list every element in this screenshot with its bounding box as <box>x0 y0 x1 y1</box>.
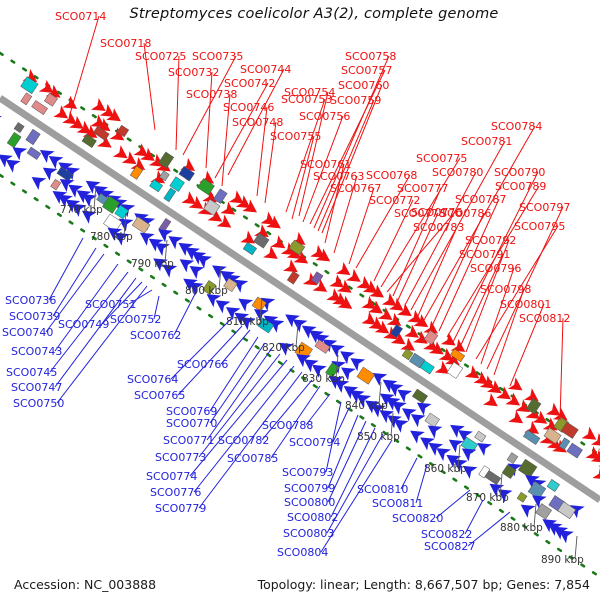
feature-box[interactable] <box>507 453 518 464</box>
feature-box[interactable] <box>287 271 299 284</box>
gene-label-forward[interactable]: SCO0760 <box>338 79 389 92</box>
gene-label-forward[interactable]: SCO0735 <box>192 50 243 63</box>
label-leader-line <box>70 16 99 114</box>
gene-label-forward[interactable]: SCO0812 <box>519 312 570 325</box>
label-leader-line <box>49 238 83 300</box>
gene-label-reverse[interactable]: SCO0743 <box>11 345 62 358</box>
feature-box[interactable] <box>567 443 583 458</box>
scale-tick-label: 840 kbp <box>345 400 388 412</box>
gene-label-forward[interactable]: SCO0746 <box>223 101 274 114</box>
gene-label-forward[interactable]: SCO0786 <box>440 207 491 220</box>
feature-box[interactable] <box>412 389 427 403</box>
gene-label-forward[interactable]: SCO0780 <box>432 166 483 179</box>
gene-arrow-forward[interactable] <box>63 96 82 115</box>
label-leader-line <box>418 227 457 316</box>
label-leader-line <box>206 72 212 168</box>
gene-label-forward[interactable]: SCO0789 <box>495 180 546 193</box>
gene-arrow-reverse[interactable] <box>517 499 536 518</box>
feature-box[interactable] <box>14 122 24 132</box>
feature-box[interactable] <box>243 242 256 255</box>
gene-label-reverse[interactable]: SCO0820 <box>392 512 443 525</box>
gene-label-reverse[interactable]: SCO0774 <box>146 470 197 483</box>
gene-label-reverse[interactable]: SCO0739 <box>9 310 60 323</box>
gene-arrow-forward[interactable] <box>592 466 600 485</box>
gene-label-reverse[interactable]: SCO0800 <box>284 496 335 509</box>
gene-arrow-reverse[interactable] <box>0 109 2 128</box>
gene-label-reverse[interactable]: SCO0811 <box>372 497 423 510</box>
label-leader-line <box>292 136 314 219</box>
gene-label-reverse[interactable]: SCO0803 <box>283 527 334 540</box>
scale-tick-label: 780 kbp <box>90 231 133 243</box>
feature-box[interactable] <box>51 179 61 190</box>
gene-label-reverse[interactable]: SCO0779 <box>155 502 206 515</box>
gene-label-reverse[interactable]: SCO0736 <box>5 294 56 307</box>
gene-label-forward[interactable]: SCO0778 <box>394 207 445 220</box>
gene-label-forward[interactable]: SCO0783 <box>413 221 464 234</box>
gene-label-reverse[interactable]: SCO0762 <box>130 329 181 342</box>
feature-box[interactable] <box>447 362 463 378</box>
gene-arrow-forward[interactable] <box>508 410 527 429</box>
gene-label-forward[interactable]: SCO0775 <box>416 152 467 165</box>
scale-tick-label: 860 kbp <box>424 463 467 475</box>
gene-label-reverse[interactable]: SCO0749 <box>58 318 109 331</box>
feature-box[interactable] <box>425 413 440 427</box>
gene-label-reverse[interactable]: SCO0764 <box>127 373 178 386</box>
scale-tick-label: 880 kbp <box>500 522 543 534</box>
gene-label-reverse[interactable]: SCO0782 <box>218 434 269 447</box>
gene-label-reverse[interactable]: SCO0747 <box>11 381 62 394</box>
feature-box[interactable] <box>547 479 559 491</box>
gene-arrow-forward[interactable] <box>508 377 527 396</box>
label-leader-line <box>328 415 358 488</box>
scale-tick-label: 870 kbp <box>466 492 509 504</box>
gene-label-forward[interactable]: SCO0756 <box>299 110 350 123</box>
feature-box[interactable] <box>27 147 41 159</box>
feature-box[interactable] <box>517 492 527 502</box>
reverse-strand-labels[interactable]: SCO0736SCO0739SCO0740SCO0743SCO0745SCO07… <box>2 238 510 559</box>
feature-box[interactable] <box>164 188 176 202</box>
gene-label-reverse[interactable]: SCO0752 <box>110 313 161 326</box>
gene-label-reverse[interactable]: SCO0788 <box>262 419 313 432</box>
feature-box[interactable] <box>475 431 486 442</box>
gene-label-reverse[interactable]: SCO0804 <box>277 546 328 559</box>
gene-label-reverse[interactable]: SCO0810 <box>357 483 408 496</box>
scale-tick-label: 790 kbp <box>131 258 174 270</box>
scale-tick-label: 890 kbp <box>541 554 584 566</box>
feature-box[interactable] <box>32 100 48 114</box>
feature-box[interactable] <box>21 93 32 105</box>
gene-label-reverse[interactable]: SCO0827 <box>424 540 475 553</box>
gene-label-forward[interactable]: SCO0738 <box>186 88 237 101</box>
gene-label-reverse[interactable]: SCO0745 <box>6 366 57 379</box>
gene-label-forward[interactable]: SCO0755 <box>270 130 321 143</box>
scale-tick-label: 800 kbp <box>185 285 228 297</box>
genome-map-viewer: Streptomyces coelicolor A3(2), complete … <box>0 0 600 600</box>
feature-box[interactable] <box>26 129 40 145</box>
gene-label-forward[interactable]: SCO0768 <box>366 169 417 182</box>
gene-label-forward[interactable]: SCO0787 <box>455 193 506 206</box>
feature-box[interactable] <box>357 367 375 384</box>
gene-label-forward[interactable]: SCO0797 <box>519 201 570 214</box>
gene-label-reverse[interactable]: SCO0802 <box>287 511 338 524</box>
gene-label-reverse[interactable]: SCO0770 <box>166 417 217 430</box>
gene-label-forward[interactable]: SCO0744 <box>240 63 291 76</box>
gene-label-reverse[interactable]: SCO0785 <box>227 452 278 465</box>
gene-label-forward[interactable]: SCO0758 <box>345 50 396 63</box>
gene-label-forward[interactable]: SCO0801 <box>500 298 551 311</box>
gene-label-forward[interactable]: SCO0796 <box>470 262 521 275</box>
forward-strand-labels[interactable]: SCO0714SCO0718SCO0725SCO0735SCO0732SCO07… <box>55 10 570 420</box>
gene-label-reverse[interactable]: SCO0794 <box>289 436 340 449</box>
gene-label-forward[interactable]: SCO0781 <box>461 135 512 148</box>
gene-label-reverse[interactable]: SCO0750 <box>13 397 64 410</box>
gene-label-forward[interactable]: SCO0790 <box>494 166 545 179</box>
gene-label-reverse[interactable]: SCO0765 <box>134 389 185 402</box>
gene-label-forward[interactable]: SCO0748 <box>232 116 283 129</box>
gene-label-forward[interactable]: SCO0725 <box>135 50 186 63</box>
feature-box[interactable] <box>7 132 21 147</box>
gene-arrow-reverse[interactable] <box>28 171 47 190</box>
gene-label-reverse[interactable]: SCO0751 <box>85 298 136 311</box>
gene-label-reverse[interactable]: SCO0799 <box>284 482 335 495</box>
gene-arrow-forward[interactable] <box>263 246 282 265</box>
gene-label-forward[interactable]: SCO0792 <box>465 234 516 247</box>
gene-arrow-reverse[interactable] <box>406 425 425 444</box>
feature-box[interactable] <box>518 459 537 477</box>
scale-tick-label: 770 kbp <box>60 204 103 216</box>
gene-label-reverse[interactable]: SCO0793 <box>282 466 333 479</box>
gene-label-reverse[interactable]: SCO0776 <box>150 486 201 499</box>
gene-label-forward[interactable]: SCO0795 <box>514 220 565 233</box>
label-leader-line <box>560 318 563 420</box>
gene-label-forward[interactable]: SCO0798 <box>480 283 531 296</box>
gene-label-forward[interactable]: SCO0791 <box>459 248 510 261</box>
gene-arrow-forward[interactable] <box>483 393 502 412</box>
gene-label-forward[interactable]: SCO0777 <box>397 182 448 195</box>
genome-stats-text: Topology: linear; Length: 8,667,507 bp; … <box>258 577 590 592</box>
gene-label-forward[interactable]: SCO0714 <box>55 10 106 23</box>
gene-label-forward[interactable]: SCO0754 <box>284 86 335 99</box>
gene-label-reverse[interactable]: SCO0740 <box>2 326 53 339</box>
genome-map-canvas[interactable]: 770 kbp780 kbp790 kbp800 kbp810 kbp820 k… <box>0 0 600 600</box>
gene-label-reverse[interactable]: SCO0766 <box>177 358 228 371</box>
scale-tick-label: 830 kbp <box>302 373 345 385</box>
gene-label-reverse[interactable]: SCO0773 <box>155 451 206 464</box>
gene-label-forward[interactable]: SCO0732 <box>168 66 219 79</box>
accession-text: Accession: NC_003888 <box>14 577 156 592</box>
scale-tick-label: 810 kbp <box>226 316 269 328</box>
gene-label-forward[interactable]: SCO0784 <box>491 120 542 133</box>
gene-label-forward[interactable]: SCO0718 <box>100 37 151 50</box>
gene-label-reverse[interactable]: SCO0771 <box>163 434 214 447</box>
